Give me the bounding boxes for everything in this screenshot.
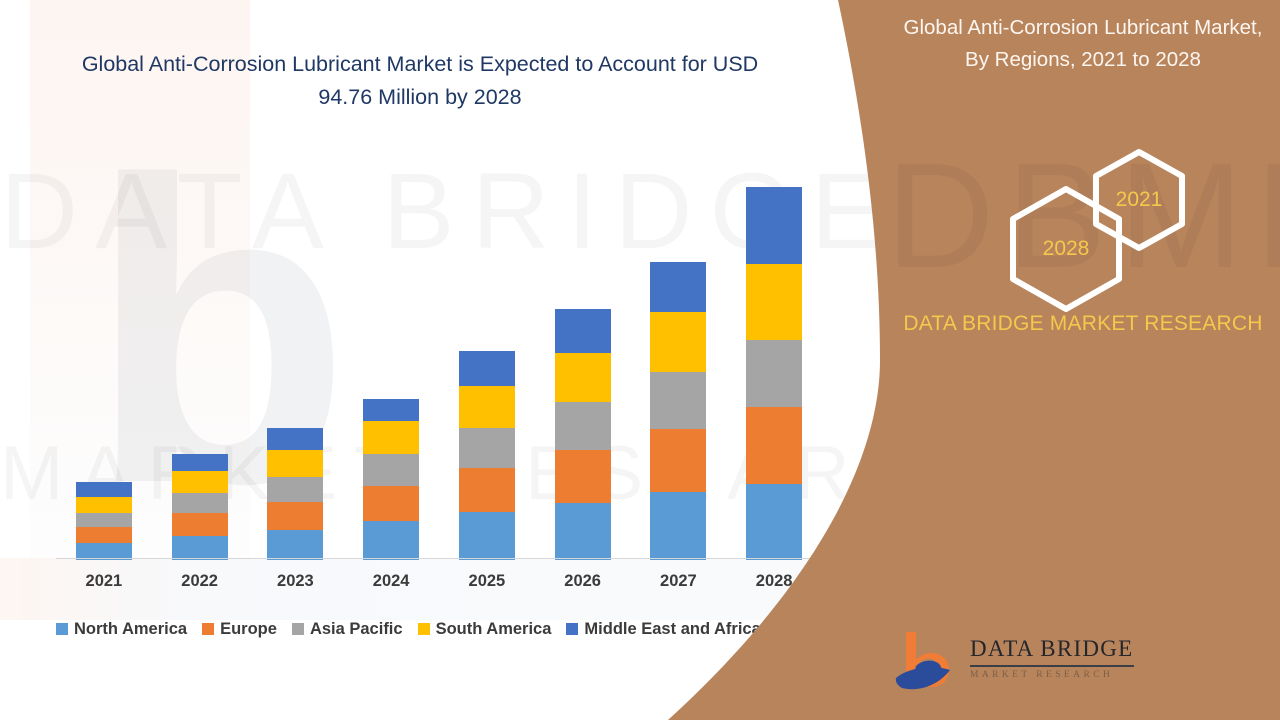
bar-segment <box>746 407 802 484</box>
data-bridge-logo: DATA BRIDGE MARKET RESEARCH <box>892 626 1132 704</box>
legend-swatch <box>202 623 214 635</box>
chart-legend: North AmericaEuropeAsia PacificSouth Ame… <box>56 616 822 642</box>
bar-segment <box>267 477 323 502</box>
legend-label: Asia Pacific <box>310 620 403 639</box>
bar-segment <box>172 536 228 560</box>
logo-subtitle: MARKET RESEARCH <box>970 670 1140 680</box>
hexagon-label-near: 2021 <box>1091 148 1187 252</box>
bar-segment <box>172 454 228 471</box>
bar-segment <box>172 493 228 513</box>
bar-segment <box>555 503 611 560</box>
bar-column <box>363 399 419 560</box>
bar-segment <box>459 428 515 468</box>
logo-divider <box>970 665 1134 667</box>
bar-segment <box>267 428 323 450</box>
x-axis-label: 2025 <box>442 572 532 591</box>
x-axis-line <box>56 558 822 559</box>
bar-segment <box>363 454 419 486</box>
bar-segment <box>267 450 323 477</box>
logo-title: DATA BRIDGE <box>970 636 1140 662</box>
bar-segment <box>746 340 802 407</box>
page-title: Global Anti-Corrosion Lubricant Market i… <box>60 48 780 114</box>
legend-label: Europe <box>220 620 277 639</box>
hexagon-label-far: 2028 <box>1006 184 1126 314</box>
bar-segment <box>76 497 132 513</box>
bar-segment <box>267 502 323 530</box>
bar-segment <box>459 351 515 386</box>
bar-column <box>555 309 611 560</box>
x-axis-label: 2021 <box>59 572 149 591</box>
chart-panel: b DATA BRIDGE MARKET RESEARCH Global Ant… <box>0 0 880 720</box>
hexagon-outline-far <box>1006 184 1126 314</box>
bar-column <box>459 351 515 560</box>
bar-column <box>267 428 323 560</box>
legend-swatch <box>418 623 430 635</box>
x-axis-label: 2028 <box>729 572 819 591</box>
brand-watermark: DBMR <box>886 140 1280 290</box>
bar-segment <box>650 262 706 312</box>
logo-mark-icon <box>892 626 966 704</box>
bar-segment <box>172 513 228 536</box>
bar-column <box>746 187 802 560</box>
bar-segment <box>363 399 419 421</box>
legend-swatch <box>56 623 68 635</box>
bar-segment <box>555 353 611 403</box>
logo-text-block: DATA BRIDGE MARKET RESEARCH <box>970 636 1140 680</box>
bar-segment <box>76 482 132 497</box>
x-axis-label: 2022 <box>155 572 245 591</box>
bar-segment <box>555 402 611 450</box>
x-axis-label: 2027 <box>633 572 723 591</box>
bar-segment <box>746 187 802 264</box>
legend-item[interactable]: Middle East and Africa <box>566 620 760 639</box>
bar-segment <box>459 468 515 512</box>
brand-content: DBMR Global Anti-Corrosion Lubricant Mar… <box>886 0 1280 720</box>
hexagon-badge-2021: 2021 <box>1091 148 1187 252</box>
brand-heading: Global Anti-Corrosion Lubricant Market, … <box>896 12 1270 76</box>
bar-segment <box>555 309 611 353</box>
stacked-bar-plot <box>56 150 822 560</box>
bar-segment <box>363 521 419 560</box>
bar-column <box>172 454 228 560</box>
bar-segment <box>650 492 706 560</box>
x-axis-label: 2023 <box>250 572 340 591</box>
bar-segment <box>746 484 802 560</box>
legend-item[interactable]: North America <box>56 620 187 639</box>
x-axis-label: 2026 <box>538 572 628 591</box>
bar-segment <box>363 421 419 454</box>
bar-segment <box>650 372 706 429</box>
bar-segment <box>76 527 132 543</box>
legend-swatch <box>292 623 304 635</box>
bar-segment <box>650 312 706 372</box>
bar-column <box>76 482 132 560</box>
legend-label: Middle East and Africa <box>584 620 760 639</box>
legend-item[interactable]: South America <box>418 620 552 639</box>
bar-segment <box>76 513 132 527</box>
infographic-page: b DATA BRIDGE MARKET RESEARCH Global Ant… <box>0 0 1280 720</box>
bar-segment <box>459 386 515 428</box>
company-name: DATA BRIDGE MARKET RESEARCH <box>894 308 1272 339</box>
x-axis-label: 2024 <box>346 572 436 591</box>
legend-label: South America <box>436 620 552 639</box>
bar-segment <box>555 450 611 503</box>
bar-segment <box>363 486 419 521</box>
legend-item[interactable]: Europe <box>202 620 277 639</box>
bar-column <box>650 262 706 560</box>
bar-segment <box>267 530 323 560</box>
legend-label: North America <box>74 620 187 639</box>
x-axis-labels: 20212022202320242025202620272028 <box>56 572 822 602</box>
bar-segment <box>746 264 802 340</box>
bar-segment <box>650 429 706 492</box>
legend-item[interactable]: Asia Pacific <box>292 620 403 639</box>
hexagon-outline-near <box>1091 148 1187 252</box>
hexagon-badge-2028: 2028 <box>1006 184 1126 314</box>
bar-segment <box>172 471 228 493</box>
bar-segment <box>459 512 515 560</box>
legend-swatch <box>566 623 578 635</box>
